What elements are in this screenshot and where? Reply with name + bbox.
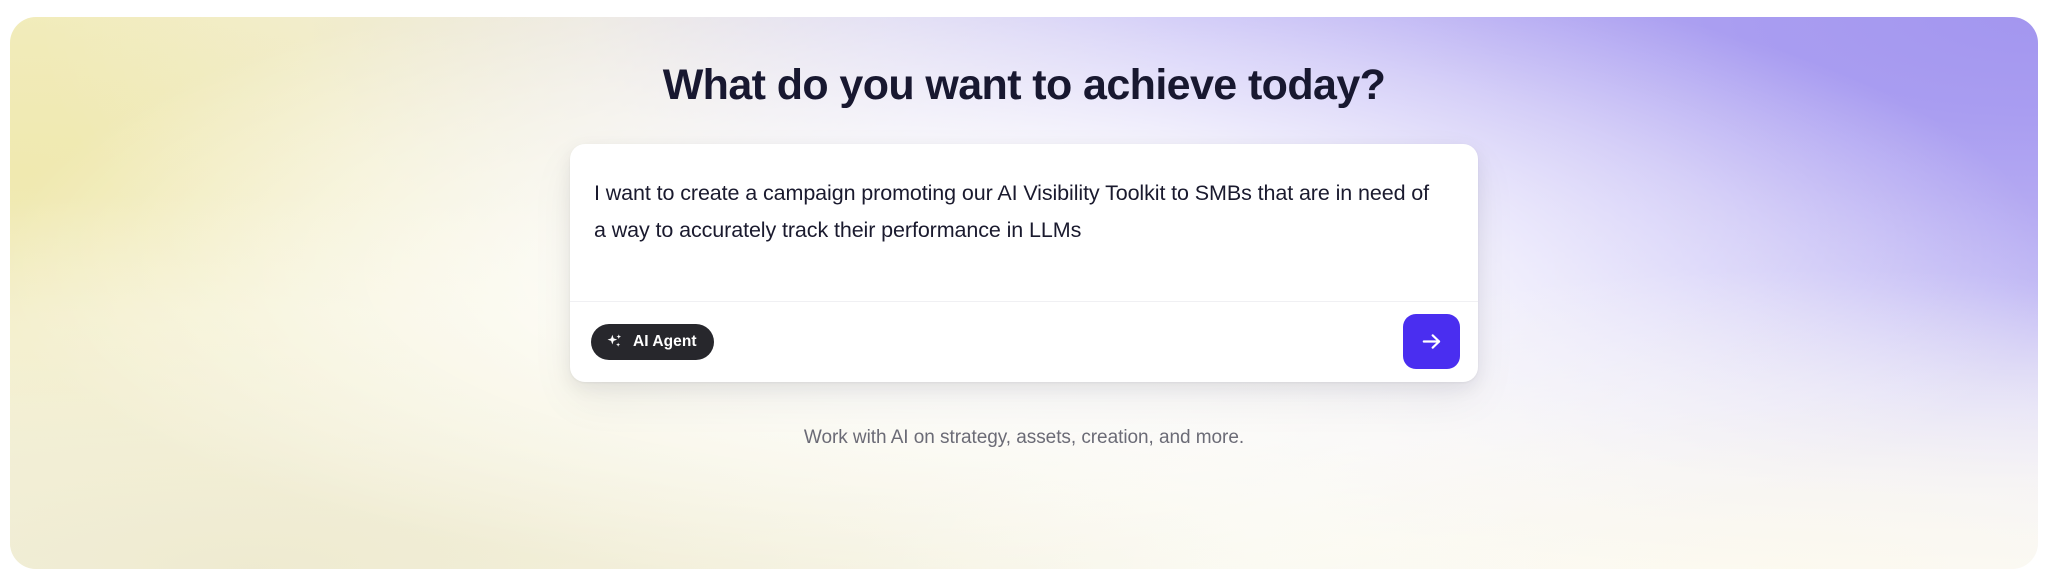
composer-divider [570, 301, 1478, 302]
ai-agent-chip-label: AI Agent [633, 333, 697, 351]
submit-button[interactable] [1403, 314, 1460, 369]
arrow-right-icon [1419, 329, 1444, 354]
hero-panel: What do you want to achieve today? I wan… [10, 17, 2038, 569]
composer-toolbar: AI Agent [570, 302, 1478, 382]
ai-agent-chip[interactable]: AI Agent [591, 324, 714, 360]
prompt-composer-card: I want to create a campaign promoting ou… [570, 144, 1478, 382]
page-title: What do you want to achieve today? [663, 60, 1386, 111]
footer-caption: Work with AI on strategy, assets, creati… [804, 427, 1244, 449]
hero-content: What do you want to achieve today? I wan… [10, 17, 2038, 569]
prompt-input[interactable]: I want to create a campaign promoting ou… [570, 144, 1478, 302]
sparkle-icon [605, 332, 624, 351]
